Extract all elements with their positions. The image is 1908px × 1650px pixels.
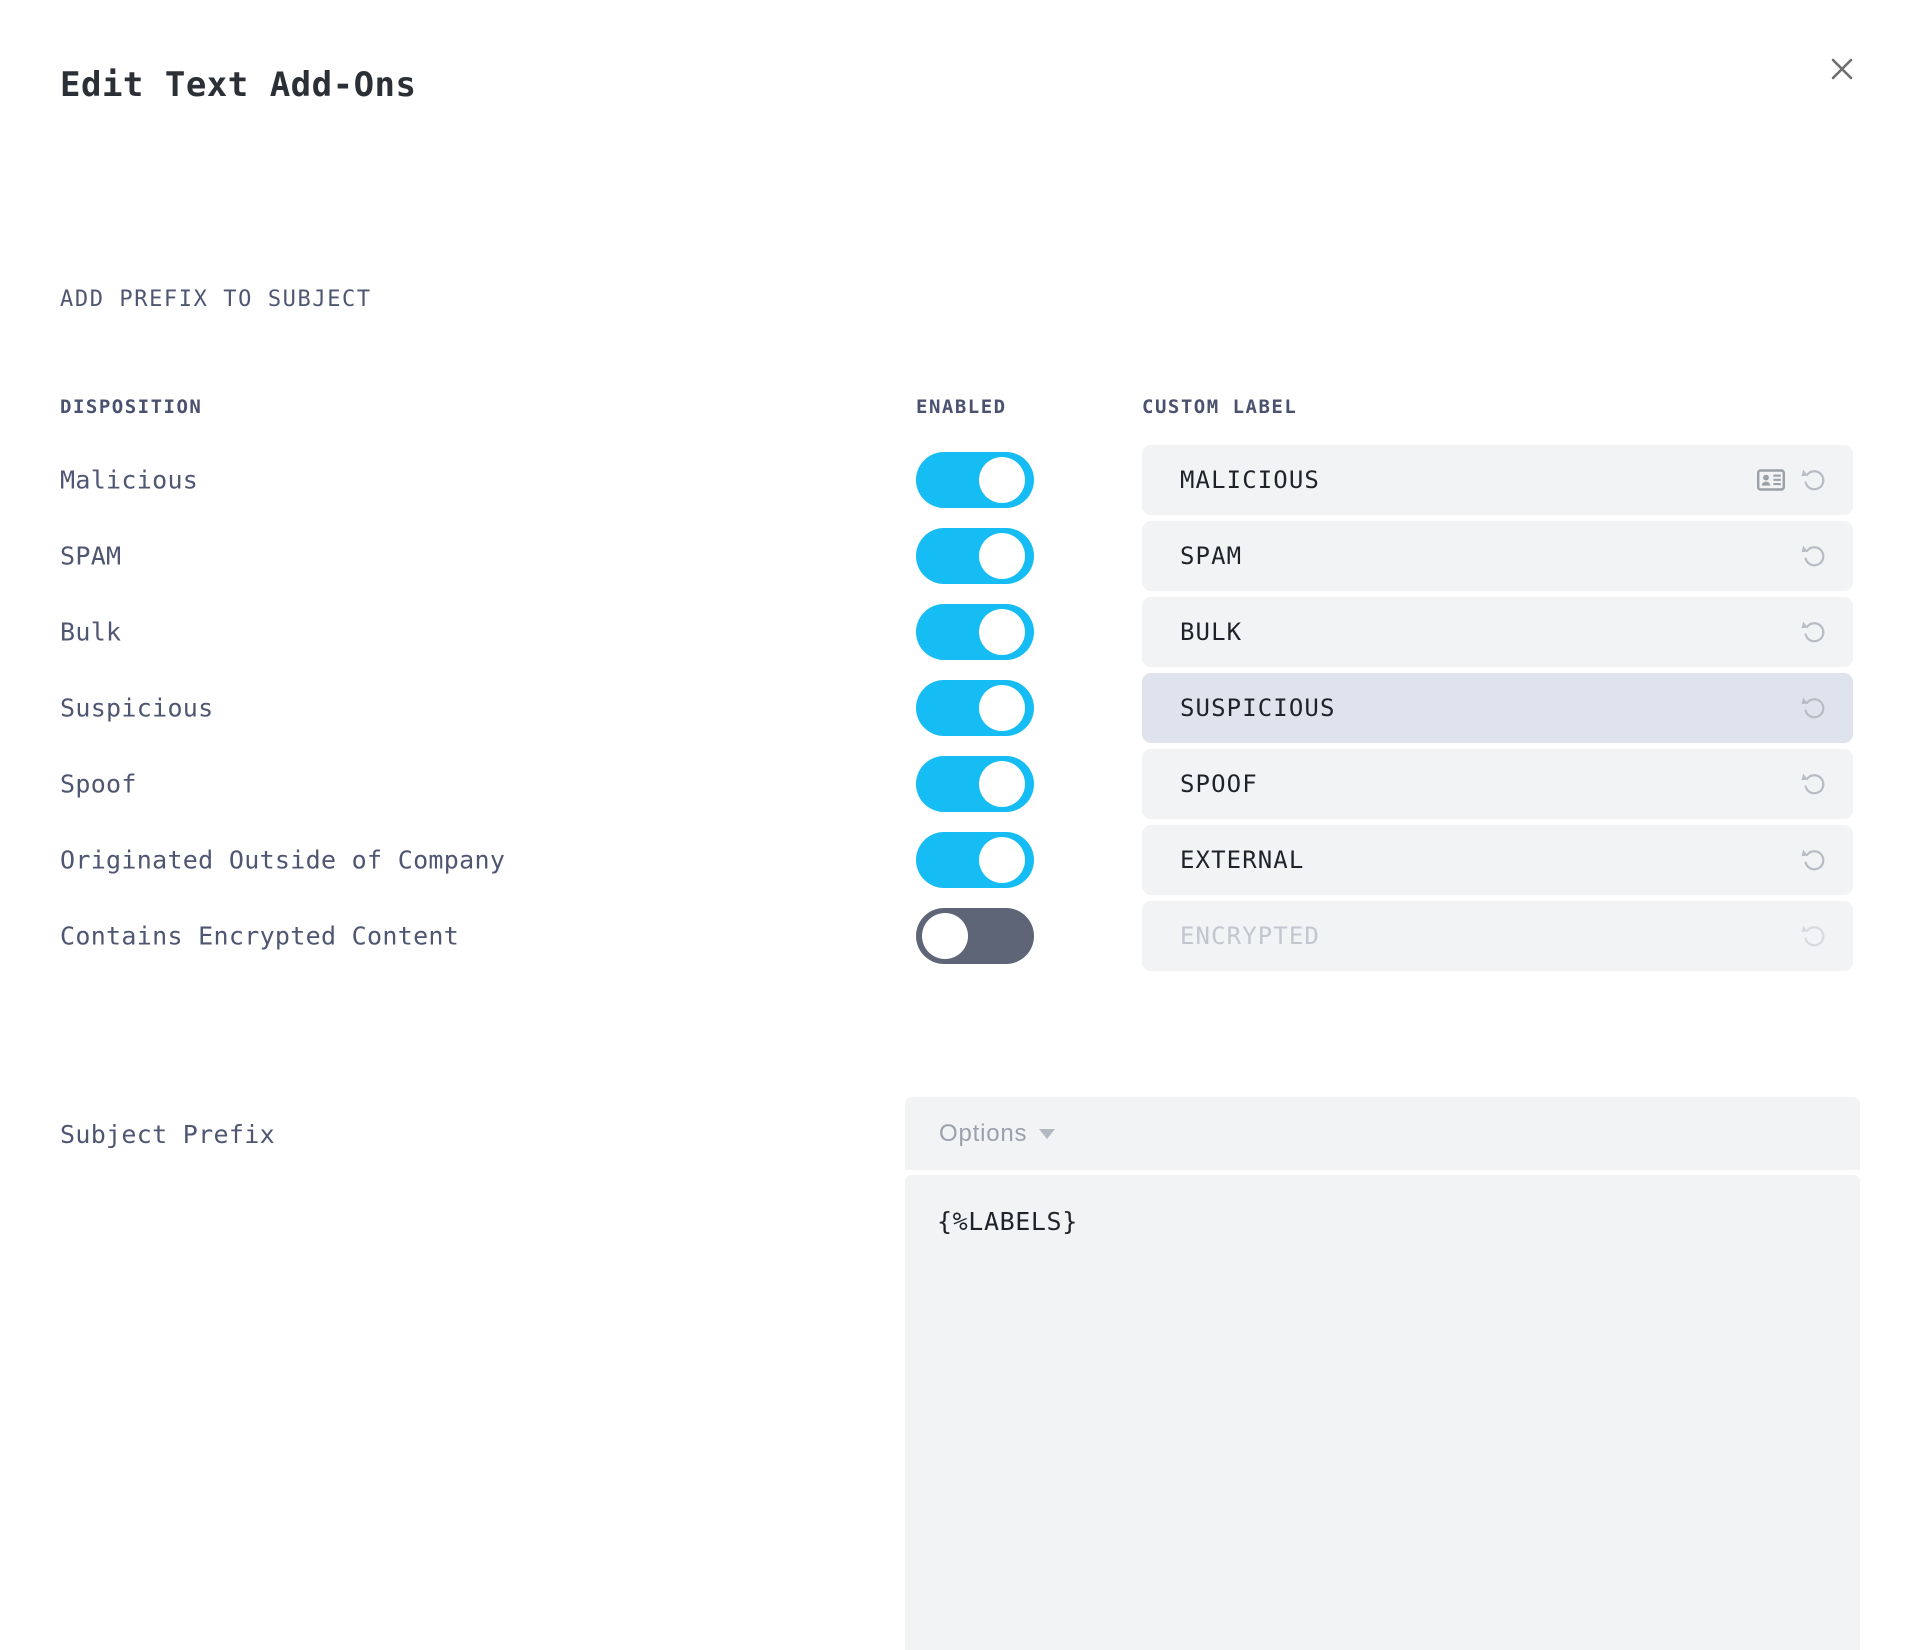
reset-icon[interactable] [1799, 617, 1829, 647]
field-icon-group [1799, 769, 1829, 799]
toggle-knob [979, 761, 1025, 807]
table-row: SuspiciousSUSPICIOUS [0, 671, 1908, 745]
table-row: BulkBULK [0, 595, 1908, 669]
reset-icon[interactable] [1799, 769, 1829, 799]
reset-icon [1799, 921, 1829, 951]
enabled-toggle[interactable] [916, 528, 1034, 584]
reset-icon[interactable] [1799, 845, 1829, 875]
enabled-toggle[interactable] [916, 908, 1034, 964]
reset-icon[interactable] [1799, 693, 1829, 723]
disposition-label: Spoof [60, 770, 137, 799]
table-row: Originated Outside of CompanyEXTERNAL [0, 823, 1908, 897]
custom-label-value: SUSPICIOUS [1180, 694, 1336, 722]
custom-label-input[interactable]: SPOOF [1142, 749, 1853, 819]
enabled-toggle[interactable] [916, 452, 1034, 508]
subject-prefix-toolbar: Options [905, 1097, 1860, 1170]
table-row: SPAMSPAM [0, 519, 1908, 593]
disposition-label: Suspicious [60, 694, 214, 723]
toggle-knob [979, 609, 1025, 655]
subject-prefix-label: Subject Prefix [60, 1120, 275, 1149]
field-icon-group [1799, 845, 1829, 875]
field-icon-group [1799, 921, 1829, 951]
table-row: Contains Encrypted ContentENCRYPTED [0, 899, 1908, 973]
toggle-knob [979, 457, 1025, 503]
edit-text-addons-dialog: Edit Text Add-Ons ADD PREFIX TO SUBJECT … [0, 0, 1908, 1650]
custom-label-input: ENCRYPTED [1142, 901, 1853, 971]
options-dropdown-label: Options [939, 1120, 1027, 1148]
field-icon-group [1799, 617, 1829, 647]
contact-card-icon[interactable] [1757, 468, 1785, 492]
enabled-toggle[interactable] [916, 756, 1034, 812]
custom-label-input[interactable]: BULK [1142, 597, 1853, 667]
custom-label-value: BULK [1180, 618, 1242, 646]
custom-label-value: EXTERNAL [1180, 846, 1304, 874]
custom-label-input[interactable]: SUSPICIOUS [1142, 673, 1853, 743]
options-dropdown-button[interactable]: Options [939, 1120, 1055, 1148]
chevron-down-icon [1039, 1129, 1055, 1139]
subject-prefix-value: {%LABELS} [937, 1207, 1078, 1236]
enabled-toggle[interactable] [916, 680, 1034, 736]
disposition-label: Originated Outside of Company [60, 846, 505, 875]
custom-label-input[interactable]: SPAM [1142, 521, 1853, 591]
toggle-knob [922, 913, 968, 959]
toggle-knob [979, 685, 1025, 731]
custom-label-input[interactable]: MALICIOUS [1142, 445, 1853, 515]
field-icon-group [1799, 541, 1829, 571]
custom-label-value: ENCRYPTED [1180, 922, 1320, 950]
disposition-label: Malicious [60, 466, 198, 495]
custom-label-value: SPAM [1180, 542, 1242, 570]
enabled-toggle[interactable] [916, 604, 1034, 660]
field-icon-group [1799, 693, 1829, 723]
custom-label-value: MALICIOUS [1180, 466, 1320, 494]
table-row: MaliciousMALICIOUS [0, 443, 1908, 517]
table-row: SpoofSPOOF [0, 747, 1908, 821]
toggle-knob [979, 533, 1025, 579]
subject-prefix-textarea[interactable]: {%LABELS} [905, 1175, 1860, 1650]
field-icon-group [1757, 465, 1829, 495]
custom-label-input[interactable]: EXTERNAL [1142, 825, 1853, 895]
custom-label-value: SPOOF [1180, 770, 1258, 798]
disposition-label: Bulk [60, 618, 121, 647]
reset-icon[interactable] [1799, 541, 1829, 571]
disposition-label: SPAM [60, 542, 121, 571]
enabled-toggle[interactable] [916, 832, 1034, 888]
reset-icon[interactable] [1799, 465, 1829, 495]
toggle-knob [979, 837, 1025, 883]
disposition-label: Contains Encrypted Content [60, 922, 459, 951]
